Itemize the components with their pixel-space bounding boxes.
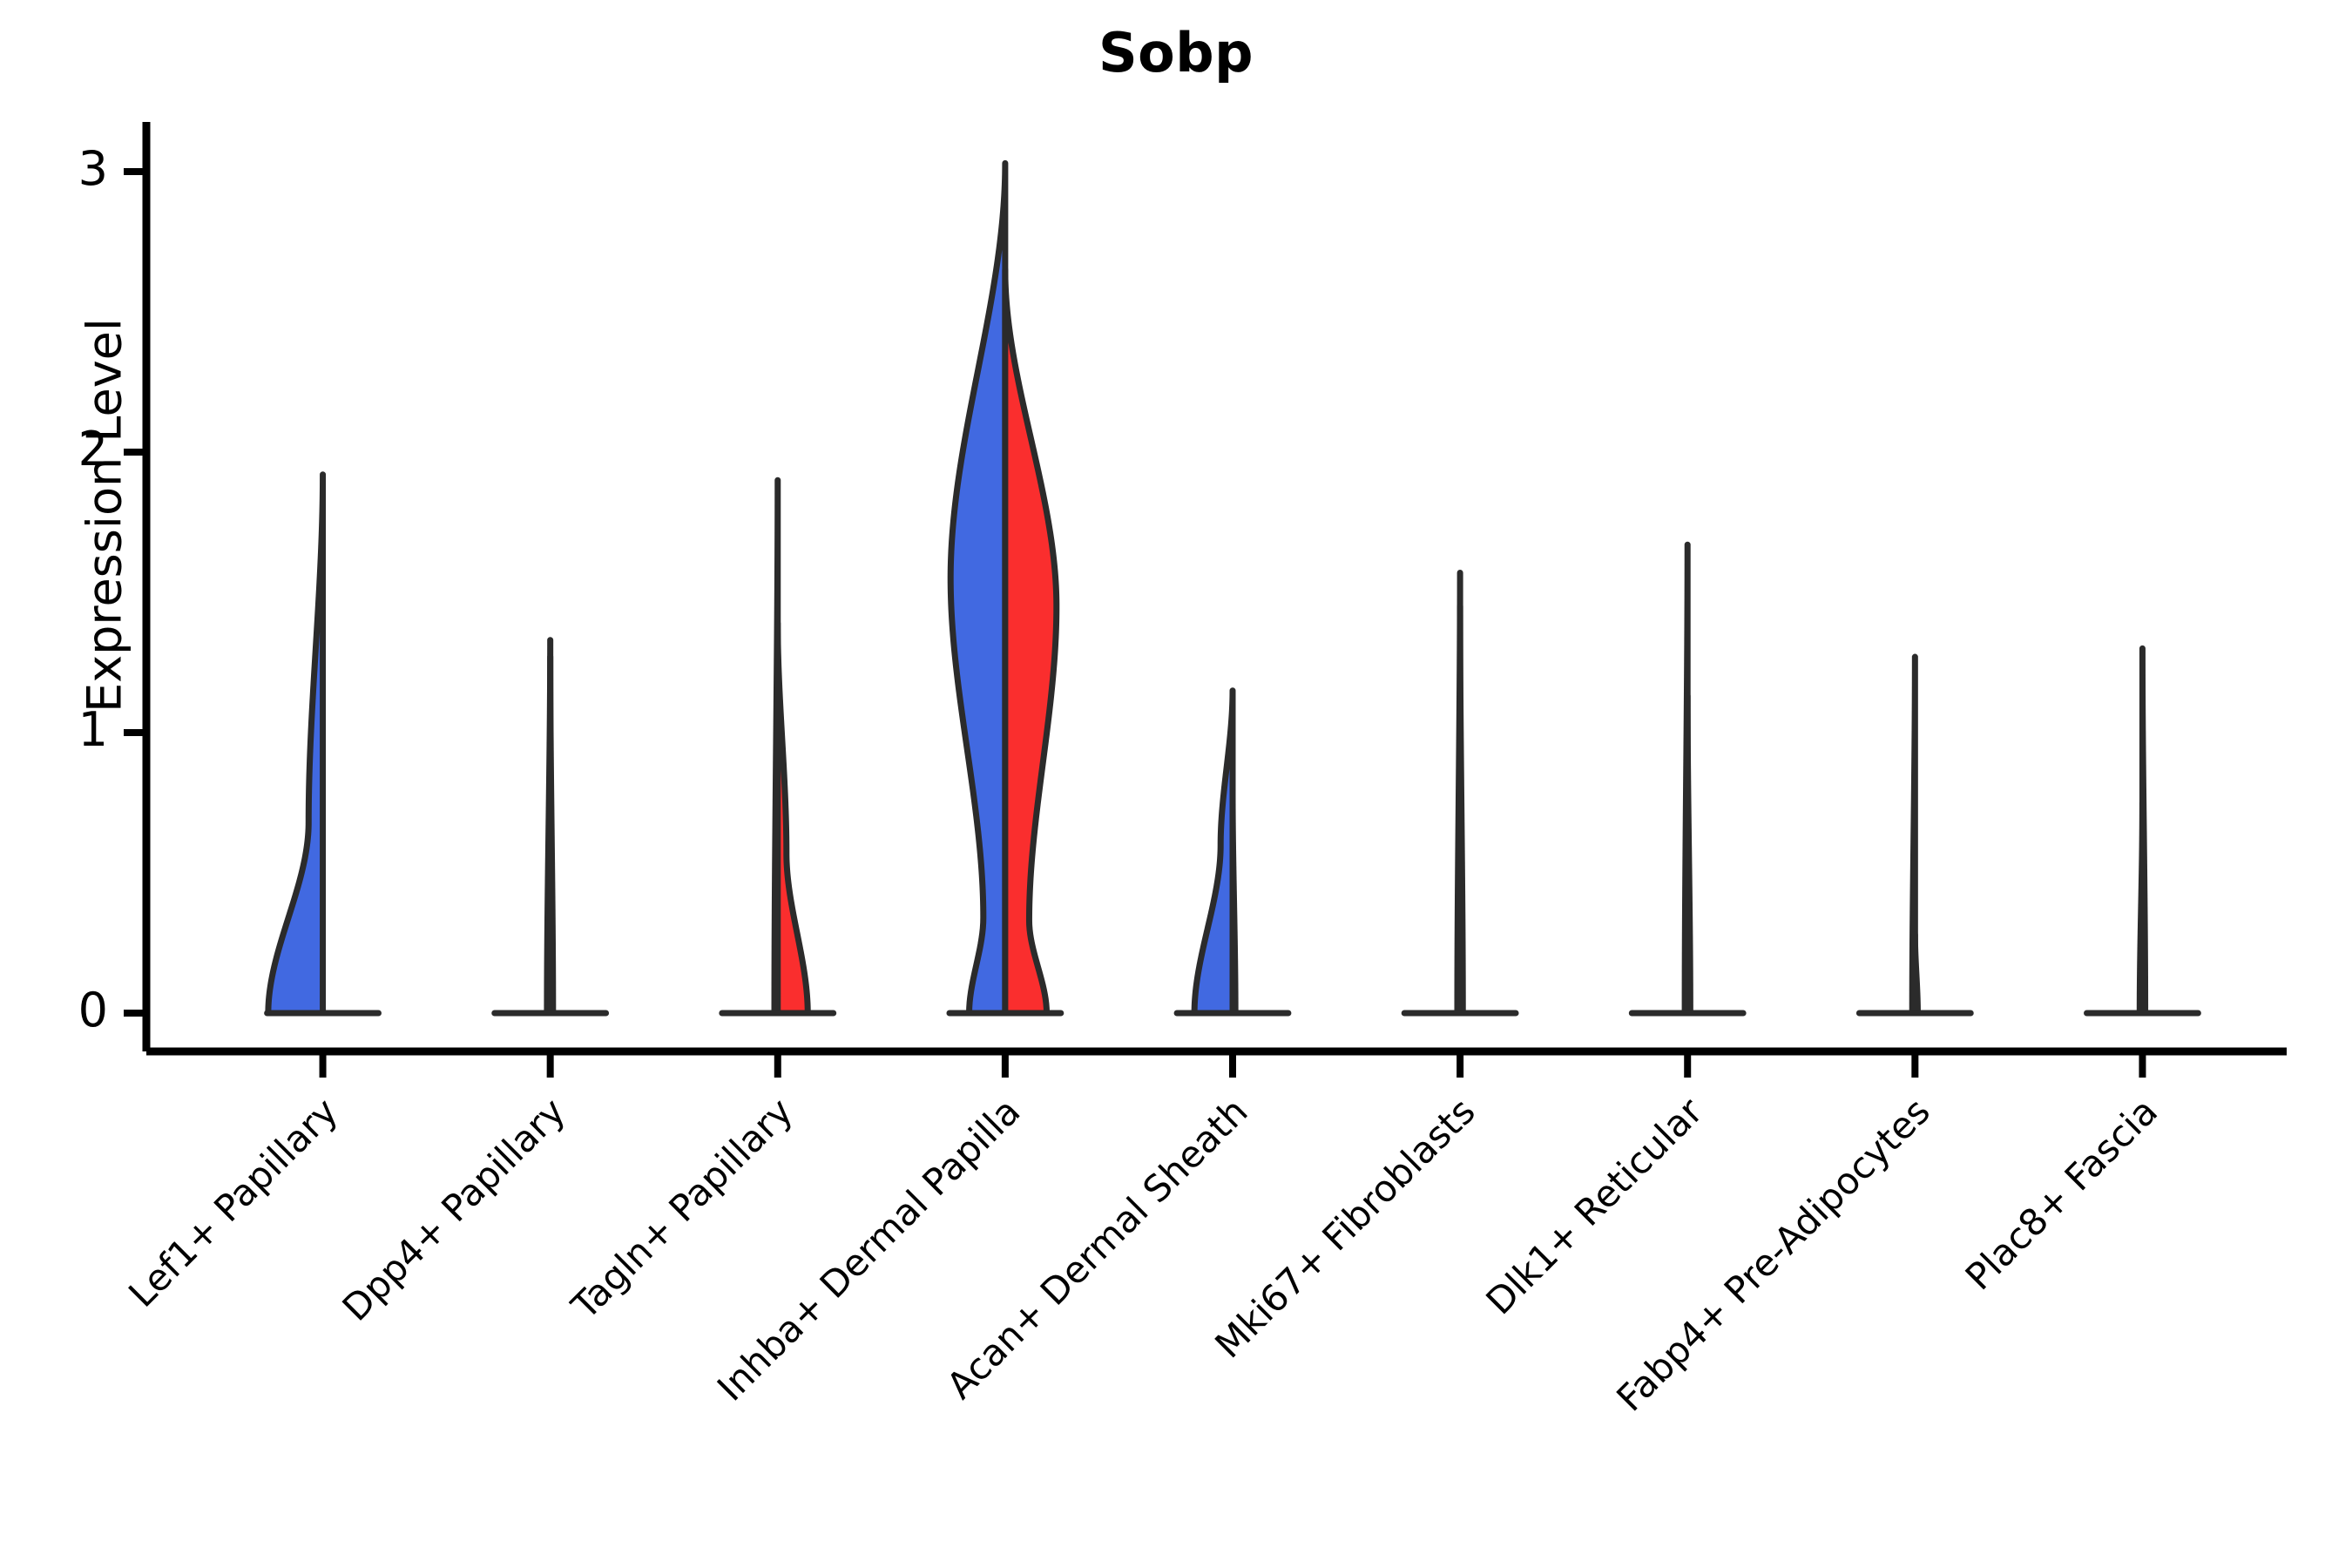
violin-red-6[interactable] xyxy=(1687,696,1690,1013)
violin-blue-3[interactable] xyxy=(950,163,1005,1013)
violin-body xyxy=(551,657,553,1013)
violin-body xyxy=(1915,935,1917,1013)
violin-red-5[interactable] xyxy=(1460,606,1463,1013)
violin-red-4[interactable] xyxy=(1233,792,1235,1013)
violin-body xyxy=(1005,270,1057,1013)
violin-red-1[interactable] xyxy=(551,657,553,1013)
violin-body xyxy=(950,163,1005,1013)
violin-red-3[interactable] xyxy=(1005,270,1057,1013)
violin-red-8[interactable] xyxy=(2142,648,2145,1013)
violin-body xyxy=(1460,606,1463,1013)
violin-body xyxy=(1233,792,1235,1013)
violin-blue-0[interactable] xyxy=(268,475,323,1013)
plot-canvas xyxy=(0,0,2352,1568)
violin-blue-4[interactable] xyxy=(1194,691,1233,1013)
violin-body xyxy=(778,623,808,1013)
violin-layer xyxy=(267,163,2199,1013)
violin-body xyxy=(268,475,323,1013)
violin-red-2[interactable] xyxy=(778,623,808,1013)
violin-red-7[interactable] xyxy=(1915,935,1917,1013)
violin-body xyxy=(1687,696,1690,1013)
violin-plot-figure: Sobp Expression Level 3 2 1 0 Lef1+ Papi… xyxy=(0,0,2352,1568)
violin-body xyxy=(1194,691,1233,1013)
violin-body xyxy=(2142,648,2145,1013)
